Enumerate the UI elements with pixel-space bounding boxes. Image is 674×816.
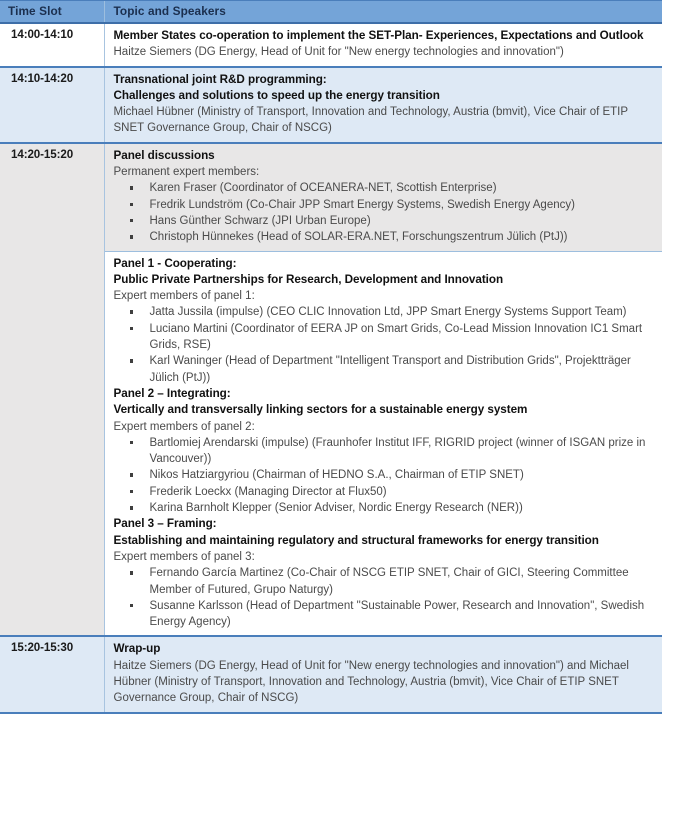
panel-2-members-list: Bartlomiej Arendarski (impulse) (Fraunho… bbox=[114, 435, 656, 516]
session-title-line-2: Challenges and solutions to speed up the… bbox=[114, 88, 656, 104]
list-item-label: Hans Günther Schwarz (JPI Urban Europe) bbox=[150, 215, 371, 227]
bullet-square-icon bbox=[130, 604, 134, 608]
bullet-square-icon bbox=[130, 186, 134, 190]
list-item-label: Karl Waninger (Head of Department "Intel… bbox=[150, 355, 631, 383]
table-row: 14:10-14:20 Transnational joint R&D prog… bbox=[0, 67, 662, 143]
list-item: Susanne Karlsson (Head of Department "Su… bbox=[114, 598, 656, 631]
session-title-line-1: Transnational joint R&D programming: bbox=[114, 72, 656, 88]
list-item: Nikos Hatziargyriou (Chairman of HEDNO S… bbox=[114, 467, 656, 483]
table-body: 14:00-14:10 Member States co-operation t… bbox=[0, 23, 662, 713]
bullet-square-icon bbox=[130, 441, 134, 445]
list-item-label: Susanne Karlsson (Head of Department "Su… bbox=[150, 600, 645, 628]
panel-3-members-list: Fernando García Martinez (Co-Chair of NS… bbox=[114, 565, 656, 630]
panel-1-members-list: Jatta Jussila (impulse) (CEO CLIC Innova… bbox=[114, 304, 656, 385]
bullet-square-icon bbox=[130, 310, 134, 314]
list-item: Jatta Jussila (impulse) (CEO CLIC Innova… bbox=[114, 304, 656, 320]
list-item-label: Christoph Hünnekes (Head of SOLAR-ERA.NE… bbox=[150, 231, 568, 243]
panel-3-lead: Expert members of panel 3: bbox=[114, 549, 656, 565]
panel-2-heading: Panel 2 – Integrating: bbox=[114, 386, 656, 402]
list-item: Karl Waninger (Head of Department "Intel… bbox=[114, 353, 656, 386]
table-row: 14:20-15:20 Panel discussions Permanent … bbox=[0, 143, 662, 637]
list-item: Christoph Hünnekes (Head of SOLAR-ERA.NE… bbox=[114, 229, 656, 245]
list-item-label: Karina Barnholt Klepper (Senior Adviser,… bbox=[150, 502, 523, 514]
permanent-members-list: Karen Fraser (Coordinator of OCEANERA-NE… bbox=[114, 180, 656, 245]
table-header: Time Slot Topic and Speakers bbox=[0, 1, 662, 24]
agenda-table: Time Slot Topic and Speakers 14:00-14:10… bbox=[0, 0, 662, 714]
panel-1-heading: Panel 1 - Cooperating: bbox=[114, 256, 656, 272]
cell-topic: Transnational joint R&D programming: Cha… bbox=[104, 67, 662, 143]
cell-time-slot: 14:00-14:10 bbox=[0, 23, 104, 67]
list-item-label: Fredrik Lundström (Co-Chair JPP Smart En… bbox=[150, 199, 575, 211]
list-item-label: Frederik Loeckx (Managing Director at Fl… bbox=[150, 486, 387, 498]
session-speaker: Michael Hübner (Ministry of Transport, I… bbox=[114, 104, 656, 137]
session-speaker: Haitze Siemers (DG Energy, Head of Unit … bbox=[114, 44, 656, 60]
list-item: Karen Fraser (Coordinator of OCEANERA-NE… bbox=[114, 180, 656, 196]
bullet-square-icon bbox=[130, 203, 134, 207]
column-header-topic: Topic and Speakers bbox=[104, 1, 662, 24]
list-item: Bartlomiej Arendarski (impulse) (Fraunho… bbox=[114, 435, 656, 468]
bullet-square-icon bbox=[130, 327, 134, 331]
list-item: Hans Günther Schwarz (JPI Urban Europe) bbox=[114, 213, 656, 229]
bullet-square-icon bbox=[130, 490, 134, 494]
list-item: Fredrik Lundström (Co-Chair JPP Smart En… bbox=[114, 197, 656, 213]
list-item-label: Bartlomiej Arendarski (impulse) (Fraunho… bbox=[150, 437, 646, 465]
list-item: Luciano Martini (Coordinator of EERA JP … bbox=[114, 321, 656, 354]
list-item-label: Karen Fraser (Coordinator of OCEANERA-NE… bbox=[150, 182, 497, 194]
table-row: 14:00-14:10 Member States co-operation t… bbox=[0, 23, 662, 67]
panel-3-heading: Panel 3 – Framing: bbox=[114, 516, 656, 532]
list-item: Karina Barnholt Klepper (Senior Adviser,… bbox=[114, 500, 656, 516]
list-item: Fernando García Martinez (Co-Chair of NS… bbox=[114, 565, 656, 598]
bullet-square-icon bbox=[130, 506, 134, 510]
list-item-label: Fernando García Martinez (Co-Chair of NS… bbox=[150, 567, 629, 595]
panel-overview-block: Panel discussions Permanent expert membe… bbox=[105, 144, 663, 252]
session-title: Wrap-up bbox=[114, 641, 656, 657]
bullet-square-icon bbox=[130, 219, 134, 223]
panel-1-lead: Expert members of panel 1: bbox=[114, 288, 656, 304]
bullet-square-icon bbox=[130, 359, 134, 363]
panel-1-subheading: Public Private Partnerships for Research… bbox=[114, 272, 656, 288]
bullet-square-icon bbox=[130, 473, 134, 477]
panel-3-subheading: Establishing and maintaining regulatory … bbox=[114, 533, 656, 549]
list-item-label: Jatta Jussila (impulse) (CEO CLIC Innova… bbox=[150, 306, 627, 318]
panel-details-block: Panel 1 - Cooperating: Public Private Pa… bbox=[105, 252, 663, 636]
header-row: Time Slot Topic and Speakers bbox=[0, 1, 662, 24]
session-title: Member States co-operation to implement … bbox=[114, 28, 656, 44]
column-header-time-slot: Time Slot bbox=[0, 1, 104, 24]
cell-time-slot: 14:20-15:20 bbox=[0, 143, 104, 637]
cell-topic: Panel discussions Permanent expert membe… bbox=[104, 143, 662, 637]
cell-time-slot: 15:20-15:30 bbox=[0, 636, 104, 712]
bullet-square-icon bbox=[130, 571, 134, 575]
session-speaker: Haitze Siemers (DG Energy, Head of Unit … bbox=[114, 658, 656, 707]
cell-time-slot: 14:10-14:20 bbox=[0, 67, 104, 143]
list-item-label: Nikos Hatziargyriou (Chairman of HEDNO S… bbox=[150, 469, 524, 481]
list-item-label: Luciano Martini (Coordinator of EERA JP … bbox=[150, 323, 643, 351]
bullet-square-icon bbox=[130, 235, 134, 239]
session-title: Panel discussions bbox=[114, 148, 656, 164]
panel-2-subheading: Vertically and transversally linking sec… bbox=[114, 402, 656, 418]
permanent-members-lead: Permanent expert members: bbox=[114, 164, 656, 180]
panel-2-lead: Expert members of panel 2: bbox=[114, 419, 656, 435]
cell-topic: Wrap-up Haitze Siemers (DG Energy, Head … bbox=[104, 636, 662, 712]
table-row: 15:20-15:30 Wrap-up Haitze Siemers (DG E… bbox=[0, 636, 662, 712]
list-item: Frederik Loeckx (Managing Director at Fl… bbox=[114, 484, 656, 500]
cell-topic: Member States co-operation to implement … bbox=[104, 23, 662, 67]
